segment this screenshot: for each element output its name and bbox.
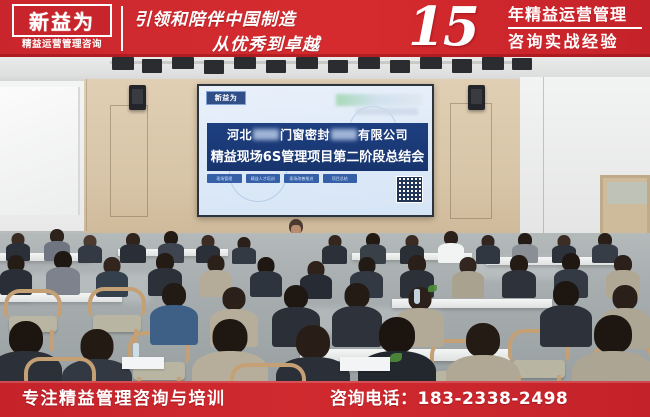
slide-title-line-1: 河北门窗密封有限公司	[207, 126, 428, 143]
slide-tab: 精益人才培训	[246, 174, 281, 183]
ceiling-light	[296, 57, 318, 69]
person-head	[9, 321, 43, 355]
person-torso	[572, 351, 650, 381]
person-head	[594, 315, 632, 353]
ceiling-light	[390, 60, 410, 73]
person-head	[553, 281, 579, 307]
logo-box: 新益为	[12, 4, 112, 37]
audience-person	[150, 283, 198, 345]
logo-brand-text: 新益为	[14, 6, 110, 35]
years-text: 年精益运营管理 咨询实战经验	[508, 3, 644, 54]
header-banner: 新益为 精益运营管理咨询 引领和陪伴中国制造 从优秀到卓越 15 年精益运营管理…	[0, 0, 650, 57]
ceiling-light	[328, 60, 348, 73]
person-head	[213, 319, 248, 354]
wall-panel-frame	[110, 105, 148, 217]
person-torso	[502, 270, 536, 298]
audience-person	[322, 235, 347, 264]
screenshot-root: 新益为 精益运营管理咨询 引领和陪伴中国制造 从优秀到卓越 15 年精益运营管理…	[0, 0, 650, 417]
slide-tab-row: 现场管理 精益人才培训 现场改善推进 项目总结	[207, 174, 357, 183]
slide-company-prefix: 河北	[227, 128, 252, 142]
person-head	[379, 317, 415, 353]
ceiling-light	[112, 57, 134, 70]
wall-panel-frame	[450, 103, 492, 219]
speaker-icon	[129, 85, 146, 110]
person-head	[296, 325, 330, 359]
years-experience-block: 15 年精益运营管理 咨询实战经验	[404, 1, 644, 56]
slide-title-line-2: 精益现场6S管理项目第二阶段总结会	[207, 146, 428, 165]
years-divider	[508, 27, 642, 29]
paper-sheet	[122, 357, 164, 369]
plant	[428, 285, 437, 292]
person-torso	[150, 305, 198, 345]
chair	[230, 363, 306, 381]
water-bottle	[414, 289, 420, 304]
slide-title-band: 河北门窗密封有限公司 精益现场6S管理项目第二阶段总结会	[207, 123, 428, 171]
slide-blur-band	[356, 108, 418, 115]
slide-tab: 现场管理	[207, 174, 242, 183]
years-line-1: 年精益运营管理	[508, 3, 644, 27]
audience-person	[452, 257, 484, 298]
years-line-2: 咨询实战经验	[508, 30, 644, 54]
ceiling-light	[420, 57, 442, 69]
slogan-line-1: 引领和陪伴中国制造	[134, 5, 296, 30]
door-glass	[607, 182, 647, 204]
qr-code-pattern	[397, 177, 422, 202]
speaker-icon	[468, 85, 485, 110]
slide-company-mid: 门窗密封	[280, 128, 330, 142]
chair-back	[4, 289, 62, 318]
slide-blur-band	[336, 94, 422, 106]
projection-screen: 新益为 河北门窗密封有限公司 精益现场6S管理项目第二阶段总结会 现场管理 精益…	[197, 84, 434, 217]
ceiling-light	[512, 58, 532, 70]
paper-sheet	[340, 357, 390, 371]
audience-person	[502, 255, 536, 298]
footer-phone: 咨询电话：183-2338-2498	[330, 381, 568, 417]
audience-person	[446, 323, 520, 381]
person-head	[345, 283, 370, 308]
person-torso	[446, 355, 520, 381]
wall-seam	[86, 79, 87, 231]
ceiling-light	[204, 60, 224, 74]
ceiling-light	[358, 57, 380, 69]
brand-logo: 新益为 精益运营管理咨询	[8, 4, 116, 53]
person-head	[162, 283, 186, 307]
slide-tab: 项目总结	[323, 174, 358, 183]
whiteboard	[0, 87, 80, 215]
header-slogan: 引领和陪伴中国制造 从优秀到卓越	[132, 3, 382, 55]
chair	[24, 357, 96, 381]
redaction-block	[253, 129, 279, 140]
person-head	[223, 287, 246, 310]
footer-tagline: 专注精益管理咨询与培训	[22, 381, 226, 417]
slide-logo-text: 新益为	[207, 92, 245, 105]
qr-code-icon	[396, 176, 423, 203]
ceiling-light	[452, 59, 472, 73]
logo-divider	[121, 6, 123, 51]
person-torso	[452, 271, 484, 298]
ceiling-light	[142, 59, 162, 73]
person-head	[284, 285, 308, 309]
chair-back	[24, 357, 96, 381]
slide-tab: 现场改善推进	[284, 174, 319, 183]
plant	[390, 353, 402, 362]
person-head	[466, 323, 500, 357]
redaction-block	[331, 129, 357, 140]
slogan-line-2: 从优秀到卓越	[212, 30, 320, 55]
audience-person	[572, 315, 650, 381]
chair-back	[88, 287, 146, 316]
slide-company-suffix: 有限公司	[358, 128, 408, 142]
training-photo: 新益为 河北门窗密封有限公司 精益现场6S管理项目第二阶段总结会 现场管理 精益…	[0, 57, 650, 381]
water-bottle	[133, 343, 139, 358]
ceiling-light	[172, 57, 194, 69]
audience-person	[358, 317, 436, 381]
logo-subtitle: 精益运营管理咨询	[8, 38, 116, 52]
footer-banner: 专注精益管理咨询与培训 咨询电话：183-2338-2498	[0, 381, 650, 417]
person-head	[613, 285, 638, 310]
ceiling-light	[234, 57, 256, 69]
wall-seam	[543, 77, 544, 235]
slide-logo: 新益为	[206, 91, 246, 105]
ceiling-light	[266, 60, 286, 73]
ceiling-light	[482, 57, 504, 70]
years-number: 15	[408, 0, 478, 55]
chair-back	[230, 363, 306, 381]
